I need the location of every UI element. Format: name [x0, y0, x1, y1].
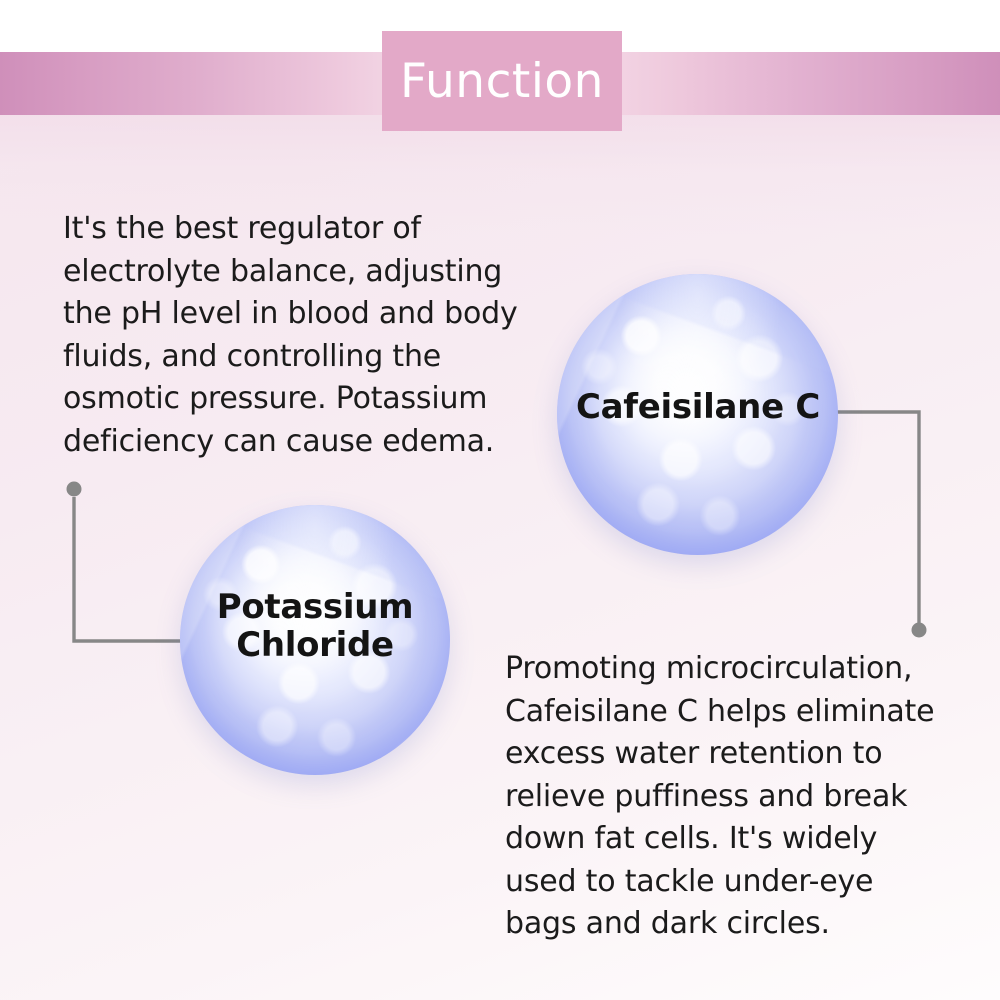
potassium-sphere-label: Potassium Chloride	[180, 588, 450, 664]
potassium-connector-dot	[67, 482, 82, 497]
potassium-description-text: It's the best regulator of electrolyte b…	[63, 208, 563, 463]
potassium-connector	[67, 482, 187, 642]
title-box: Function	[382, 31, 622, 131]
cafeisilane-connector-dot	[912, 623, 927, 638]
cafeisilane-sphere-label: Cafeisilane C	[548, 388, 848, 426]
page-title: Function	[382, 31, 622, 131]
cafeisilane-description-text: Promoting microcirculation, Cafeisilane …	[505, 648, 960, 946]
infographic-poster: Function It's the best regulator of elec…	[0, 0, 1000, 1000]
potassium-connector-path	[74, 497, 186, 641]
